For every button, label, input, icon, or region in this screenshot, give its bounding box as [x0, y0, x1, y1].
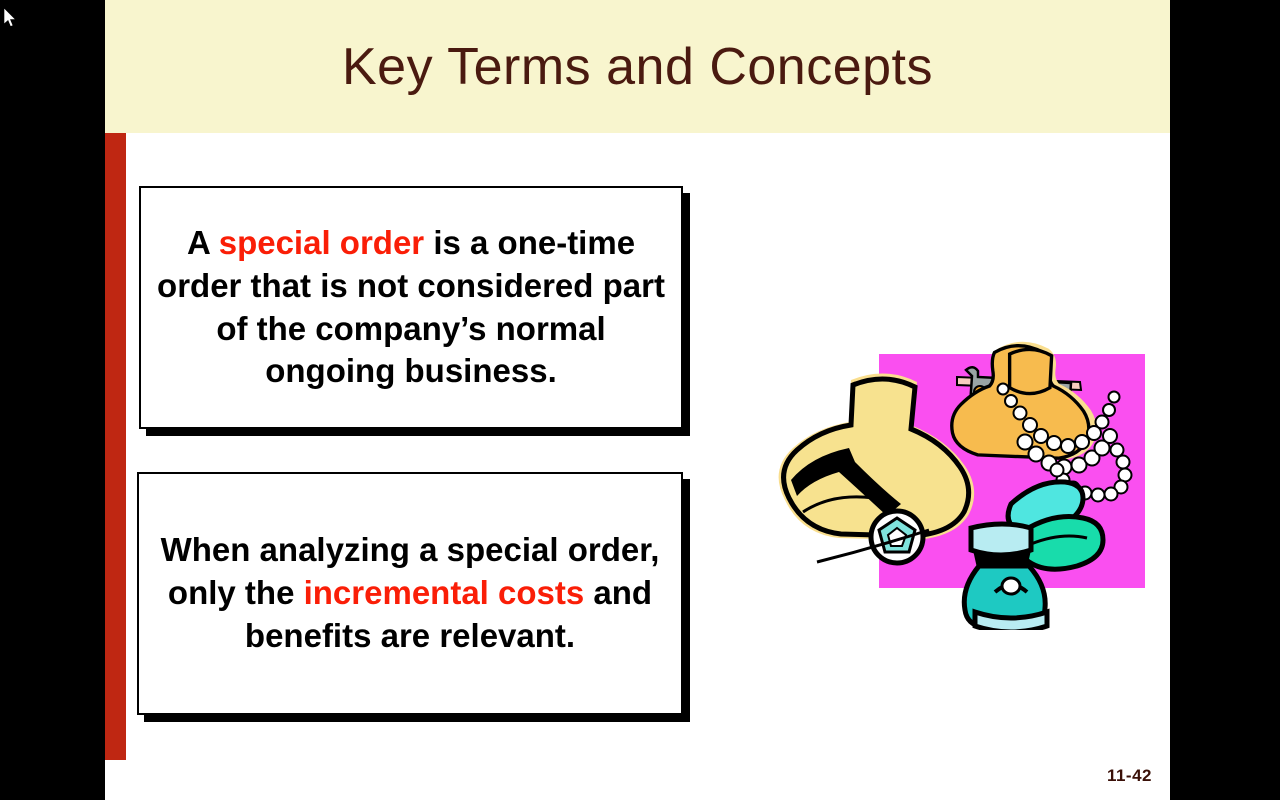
callout-text-1: A special order is a one-time order that…: [141, 222, 681, 394]
slide-number: 11-42: [1107, 766, 1152, 786]
callout-1-segment-0: A: [187, 224, 219, 261]
callout-2-segment-1-highlight: incremental costs: [304, 574, 585, 611]
slide-header: Key Terms and Concepts: [105, 0, 1170, 133]
jewelry-display-clipart: [725, 330, 1145, 630]
callout-1-segment-1-highlight: special order: [219, 224, 424, 261]
callout-box-incremental-costs: When analyzing a special order, only the…: [137, 472, 683, 715]
callout-text-2: When analyzing a special order, only the…: [139, 529, 681, 658]
callout-box-special-order: A special order is a one-time order that…: [139, 186, 683, 429]
screen: Key Terms and Concepts A special order i…: [0, 0, 1280, 800]
page-title: Key Terms and Concepts: [105, 0, 1170, 133]
left-accent-bar: [105, 133, 126, 760]
mouse-pointer-icon: [4, 8, 18, 30]
slide-canvas: Key Terms and Concepts A special order i…: [105, 0, 1170, 800]
